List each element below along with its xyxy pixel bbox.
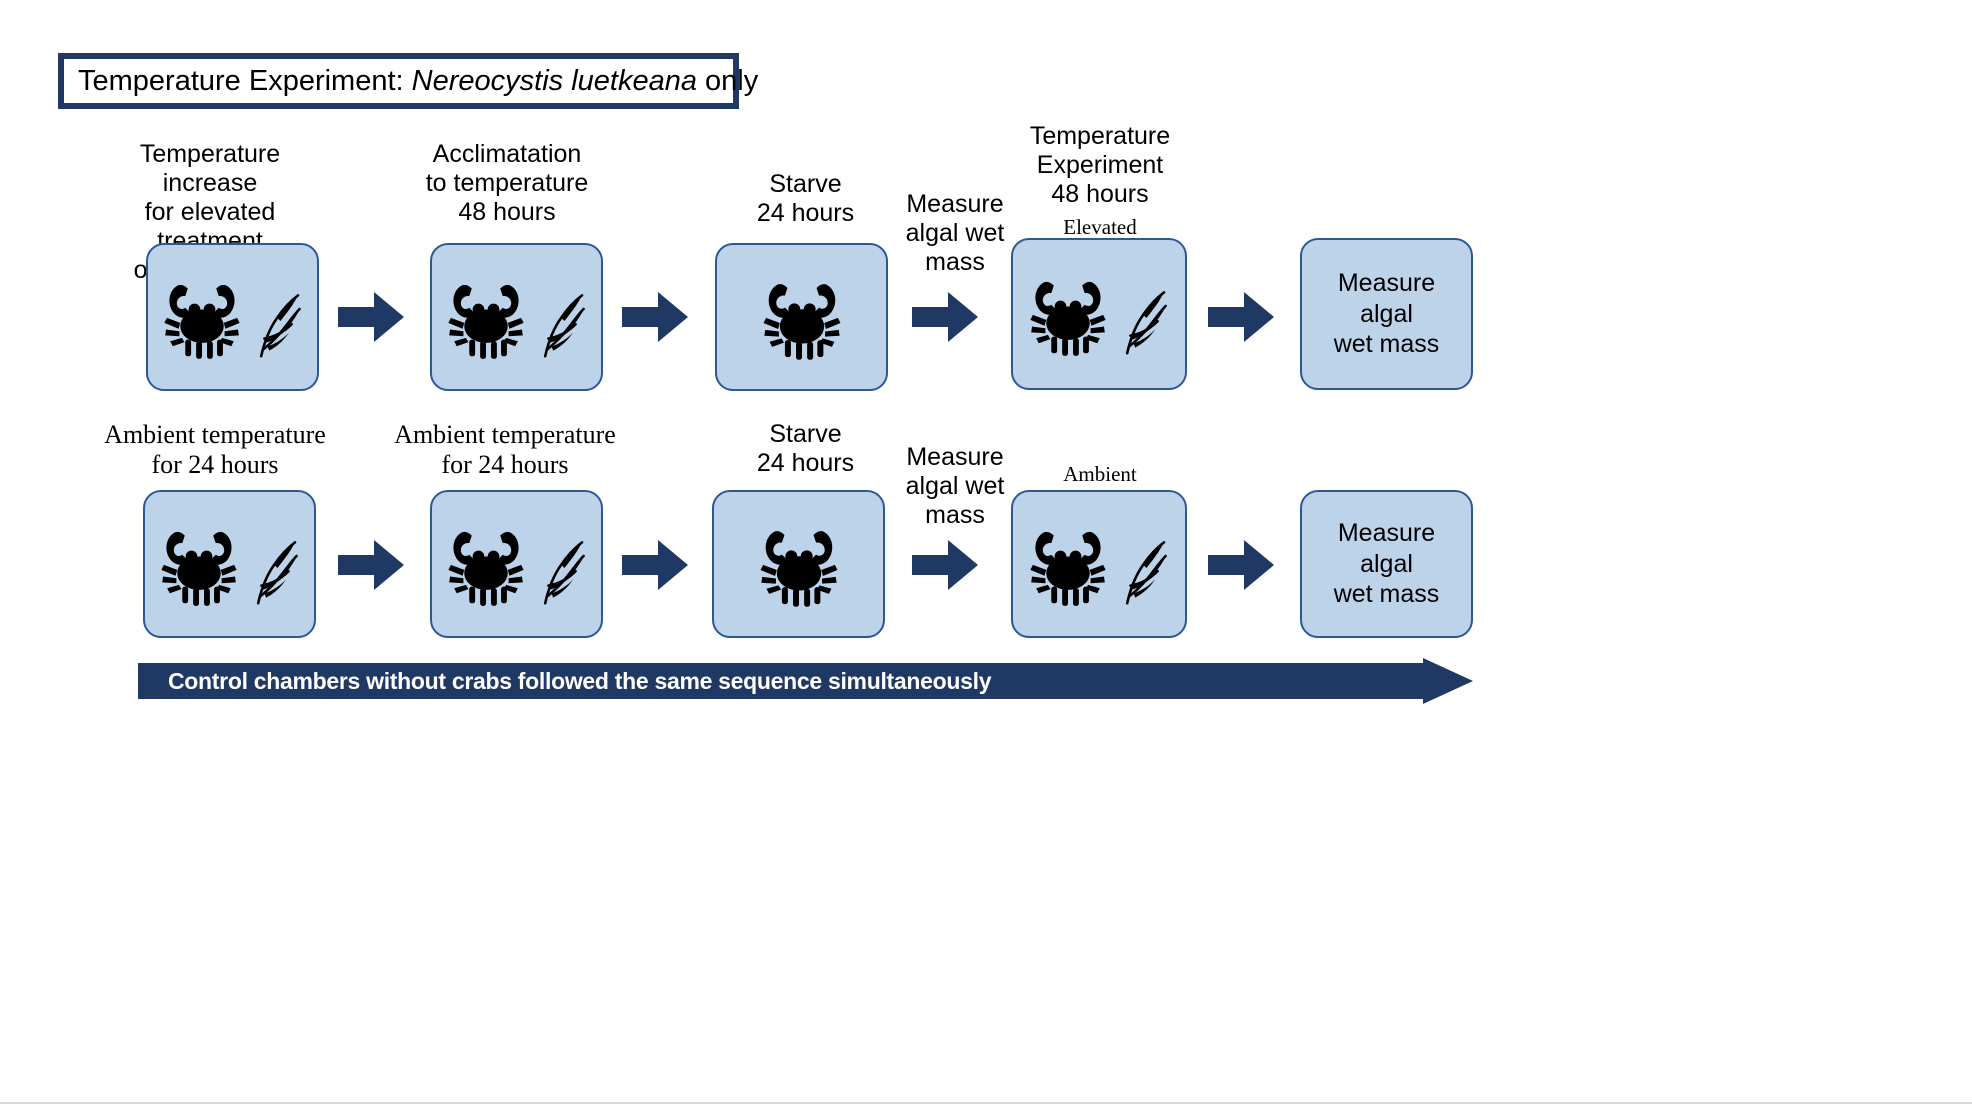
kelp-icon	[534, 518, 590, 610]
crab-icon	[756, 517, 842, 611]
arrow-r1-3to5	[912, 292, 978, 342]
icon-group-crab	[717, 245, 886, 389]
page-title: Temperature Experiment: Nereocystis luet…	[78, 66, 758, 96]
node-r2-step2-chamber[interactable]	[430, 490, 603, 638]
crab-icon	[1026, 518, 1110, 610]
icon-group-crab-kelp	[432, 245, 601, 389]
sub-caption-r1-elevated: Elevated	[1010, 215, 1190, 239]
kelp-icon	[1116, 268, 1172, 360]
caption-r2-step3: Starve 24 hours	[718, 420, 893, 478]
banner-label: Control chambers without crabs followed …	[168, 663, 991, 699]
arrow-r1-5to6	[1208, 292, 1274, 342]
node-r1-step1-chamber[interactable]	[146, 243, 319, 391]
caption-r2-step2: Ambient temperature for 24 hours	[390, 420, 620, 480]
icon-group-crab-kelp	[432, 492, 601, 636]
title-suffix: only	[697, 65, 758, 97]
node-r1-step3-chamber[interactable]	[715, 243, 888, 391]
crab-icon	[157, 518, 241, 610]
crab-icon	[759, 270, 845, 364]
arrow-r2-2to3	[622, 540, 688, 590]
icon-group-crab-kelp	[145, 492, 314, 636]
caption-r1-step4-measure: Measure algal wet mass	[890, 190, 1020, 277]
kelp-icon	[534, 271, 590, 363]
kelp-icon	[250, 271, 306, 363]
arrow-r2-1to2	[338, 540, 404, 590]
caption-r2-step4-measure: Measure algal wet mass	[890, 443, 1020, 530]
icon-group-crab-kelp	[1013, 240, 1185, 388]
icon-group-crab	[714, 492, 883, 636]
bottom-divider	[0, 1102, 1972, 1104]
crab-icon	[444, 271, 528, 363]
arrow-r1-2to3	[622, 292, 688, 342]
node-label: Measure algal wet mass	[1302, 518, 1471, 610]
node-label: Measure algal wet mass	[1302, 268, 1471, 360]
kelp-icon	[247, 518, 303, 610]
arrow-r1-1to2	[338, 292, 404, 342]
node-r2-step1-chamber[interactable]	[143, 490, 316, 638]
node-r2-step3-chamber[interactable]	[712, 490, 885, 638]
arrow-r2-3to5	[912, 540, 978, 590]
title-prefix: Temperature Experiment:	[78, 65, 412, 97]
kelp-icon	[1116, 518, 1172, 610]
node-r2-step5-chamber[interactable]	[1011, 490, 1187, 638]
sub-caption-r2-ambient: Ambient	[1010, 462, 1190, 486]
caption-r1-step2: Acclimatation to temperature 48 hours	[412, 140, 602, 227]
slide-canvas: Temperature Experiment: Nereocystis luet…	[0, 0, 1972, 1110]
title-species-name: Nereocystis luetkeana	[412, 65, 697, 97]
crab-icon	[444, 518, 528, 610]
control-chambers-banner: Control chambers without crabs followed …	[138, 658, 1473, 704]
node-r2-step6-measure[interactable]: Measure algal wet mass	[1300, 490, 1473, 638]
caption-r1-step3: Starve 24 hours	[718, 170, 893, 228]
arrow-r2-5to6	[1208, 540, 1274, 590]
slide-title-box: Temperature Experiment: Nereocystis luet…	[58, 53, 739, 109]
icon-group-crab-kelp	[148, 245, 317, 389]
crab-icon	[160, 271, 244, 363]
caption-r1-step5: Temperature Experiment 48 hours	[1010, 122, 1190, 209]
node-r1-step2-chamber[interactable]	[430, 243, 603, 391]
node-r1-step6-measure[interactable]: Measure algal wet mass	[1300, 238, 1473, 390]
node-r1-step5-chamber[interactable]	[1011, 238, 1187, 390]
icon-group-crab-kelp	[1013, 492, 1185, 636]
crab-icon	[1026, 268, 1110, 360]
caption-r2-step1: Ambient temperature for 24 hours	[100, 420, 330, 480]
